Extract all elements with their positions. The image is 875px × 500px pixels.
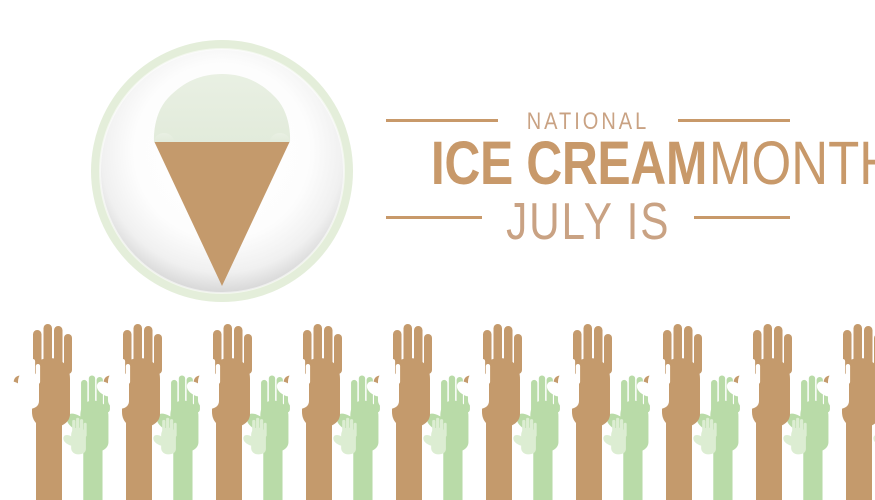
ice-cream-cone-badge — [88, 37, 356, 305]
subtitle-row: JULY IS — [386, 196, 790, 246]
hand-brown — [554, 324, 612, 500]
hand-brown — [194, 324, 252, 500]
hand-brown — [104, 324, 162, 500]
raised-hands-illustration — [0, 316, 875, 500]
hand-brown — [464, 324, 522, 500]
poster-canvas: NATIONAL ICE CREAMMONTH JULY IS — [0, 0, 875, 500]
hand-brown — [374, 324, 432, 500]
hand-brown — [734, 324, 792, 500]
title-bold-text: ICE CREAM — [431, 134, 707, 193]
hand-brown — [824, 324, 875, 500]
title-thin-text: MONTH — [709, 134, 875, 193]
subtitle-text: JULY IS — [506, 193, 670, 249]
hand-brown — [284, 324, 342, 500]
hand-brown — [14, 324, 72, 500]
hand-brown — [644, 324, 702, 500]
headline-block: NATIONAL ICE CREAMMONTH JULY IS — [386, 108, 790, 243]
